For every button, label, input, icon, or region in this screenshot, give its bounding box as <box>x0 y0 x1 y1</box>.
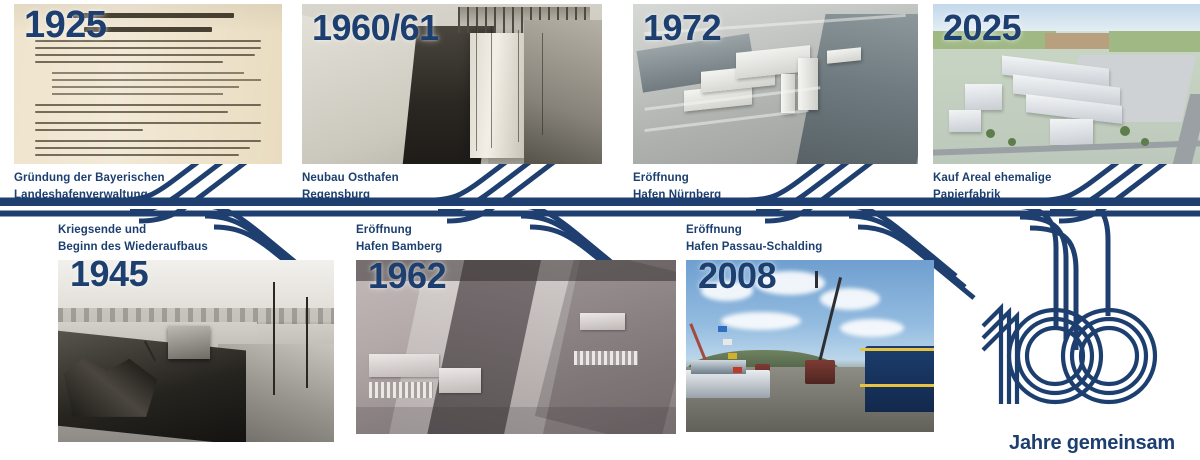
year-label: 2008 <box>698 260 776 294</box>
milestone-caption: Kriegsende und Beginn des Wiederaufbaus <box>58 222 334 255</box>
decree-document-photo: 1925 <box>14 4 282 164</box>
logo-tagline-line1: Jahre gemeinsam <box>975 432 1175 454</box>
milestone-caption: Kauf Areal ehemalige Papierfabrik <box>933 170 1200 203</box>
milestone-1960-61[interactable]: 1960/61 Neubau Osthafen Regensburg <box>302 4 602 203</box>
year-label: 1925 <box>24 6 107 44</box>
year-label: 1945 <box>70 260 148 292</box>
milestone-2008[interactable]: Eröffnung Hafen Passau-Schalding <box>686 222 934 432</box>
milestone-1925[interactable]: 1925 Gründung der Bayerischen Landeshafe… <box>14 4 282 203</box>
nuernberg-aerial-photo: 1972 <box>633 4 918 164</box>
year-label: 2025 <box>943 10 1021 46</box>
milestone-caption: Neubau Osthafen Regensburg <box>302 170 602 203</box>
logo-tagline: Jahre gemeinsam ein bayernhafen <box>975 410 1175 460</box>
milestone-caption: Eröffnung Hafen Passau-Schalding <box>686 222 934 255</box>
milestone-caption: Gründung der Bayerischen Landeshafenverw… <box>14 170 282 203</box>
100-jahre-bayernhafen-logo[interactable]: Jahre gemeinsam ein bayernhafen <box>975 300 1175 460</box>
construction-pit-photo: 1960/61 <box>302 4 602 164</box>
year-label: 1972 <box>643 10 721 46</box>
bamberg-aerial-photo: 1962 <box>356 260 676 434</box>
timeline-infographic: 1925 Gründung der Bayerischen Landeshafe… <box>0 0 1200 460</box>
milestone-1962[interactable]: Eröffnung Hafen Bamberg 1962 <box>356 222 676 434</box>
passau-crane-photo: 2008 <box>686 260 934 432</box>
milestone-1945[interactable]: Kriegsende und Beginn des Wiederaufbaus … <box>58 222 334 442</box>
milestone-caption: Eröffnung Hafen Bamberg <box>356 222 676 255</box>
year-label: 1962 <box>368 260 446 294</box>
wrecked-barge-photo: 1945 <box>58 260 334 442</box>
year-label: 1960/61 <box>312 10 439 46</box>
milestone-caption: Eröffnung Hafen Nürnberg <box>633 170 918 203</box>
milestone-1972[interactable]: 1972 Eröffnung Hafen Nürnberg <box>633 4 918 203</box>
papierfabrik-aerial-photo: 2025 <box>933 4 1200 164</box>
milestone-2025[interactable]: 2025 Kauf Areal ehemalige Papierfabrik <box>933 4 1200 203</box>
100-numeral-mark <box>975 300 1165 408</box>
